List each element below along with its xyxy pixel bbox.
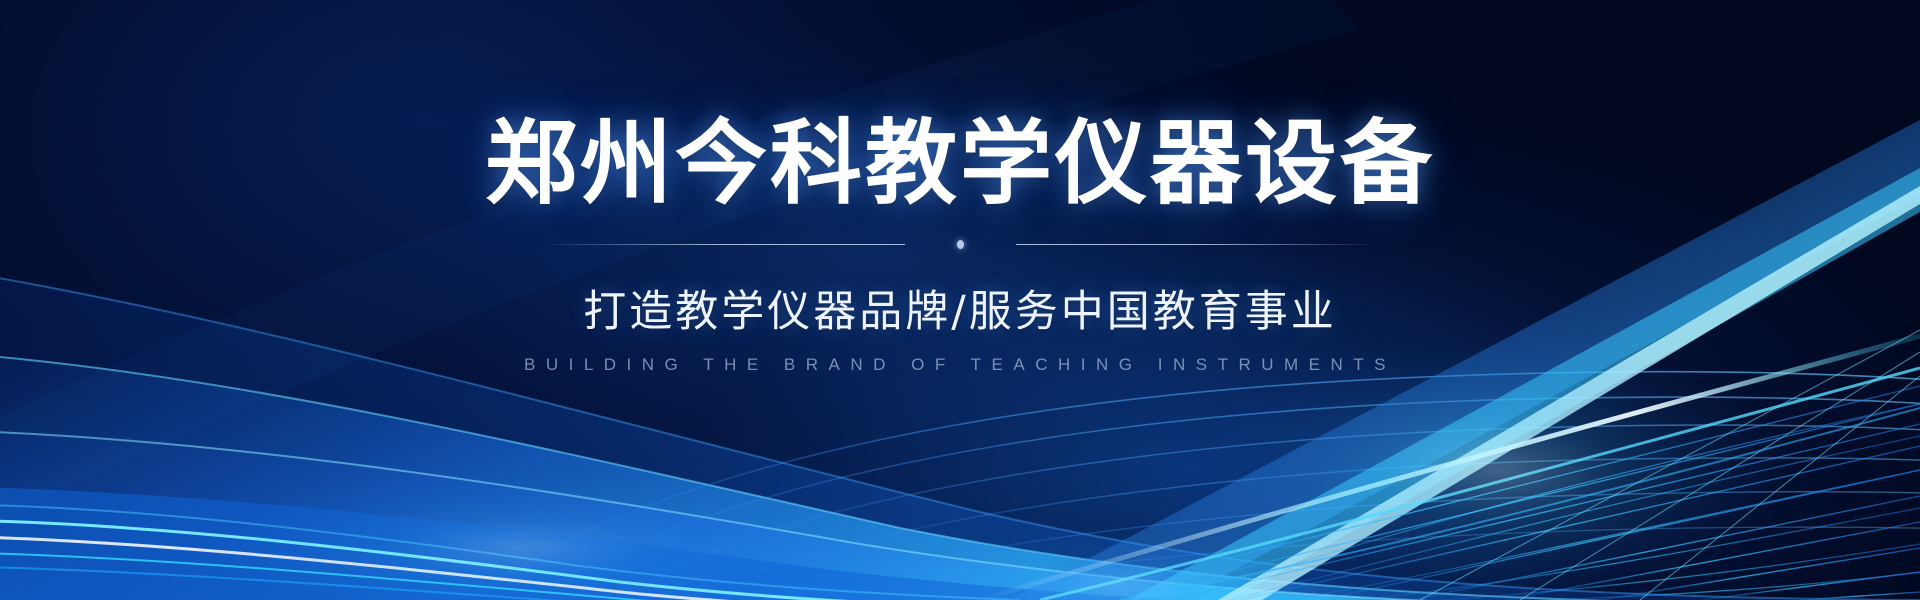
banner-content: 郑州今科教学仪器设备 打造教学仪器品牌/服务中国教育事业 BUILDING TH… [0,0,1920,600]
banner-subtitle: 打造教学仪器品牌/服务中国教育事业 [583,251,1337,339]
divider-dot-icon [957,240,964,249]
title-divider [550,239,1370,251]
divider-rule-right [1016,244,1371,245]
hero-banner: 郑州今科教学仪器设备 打造教学仪器品牌/服务中国教育事业 BUILDING TH… [0,0,1920,600]
banner-tagline-english: BUILDING THE BRAND OF TEACHING INSTRUMEN… [524,339,1396,375]
divider-rule-left [550,244,905,245]
page-title: 郑州今科教学仪器设备 [485,0,1435,213]
